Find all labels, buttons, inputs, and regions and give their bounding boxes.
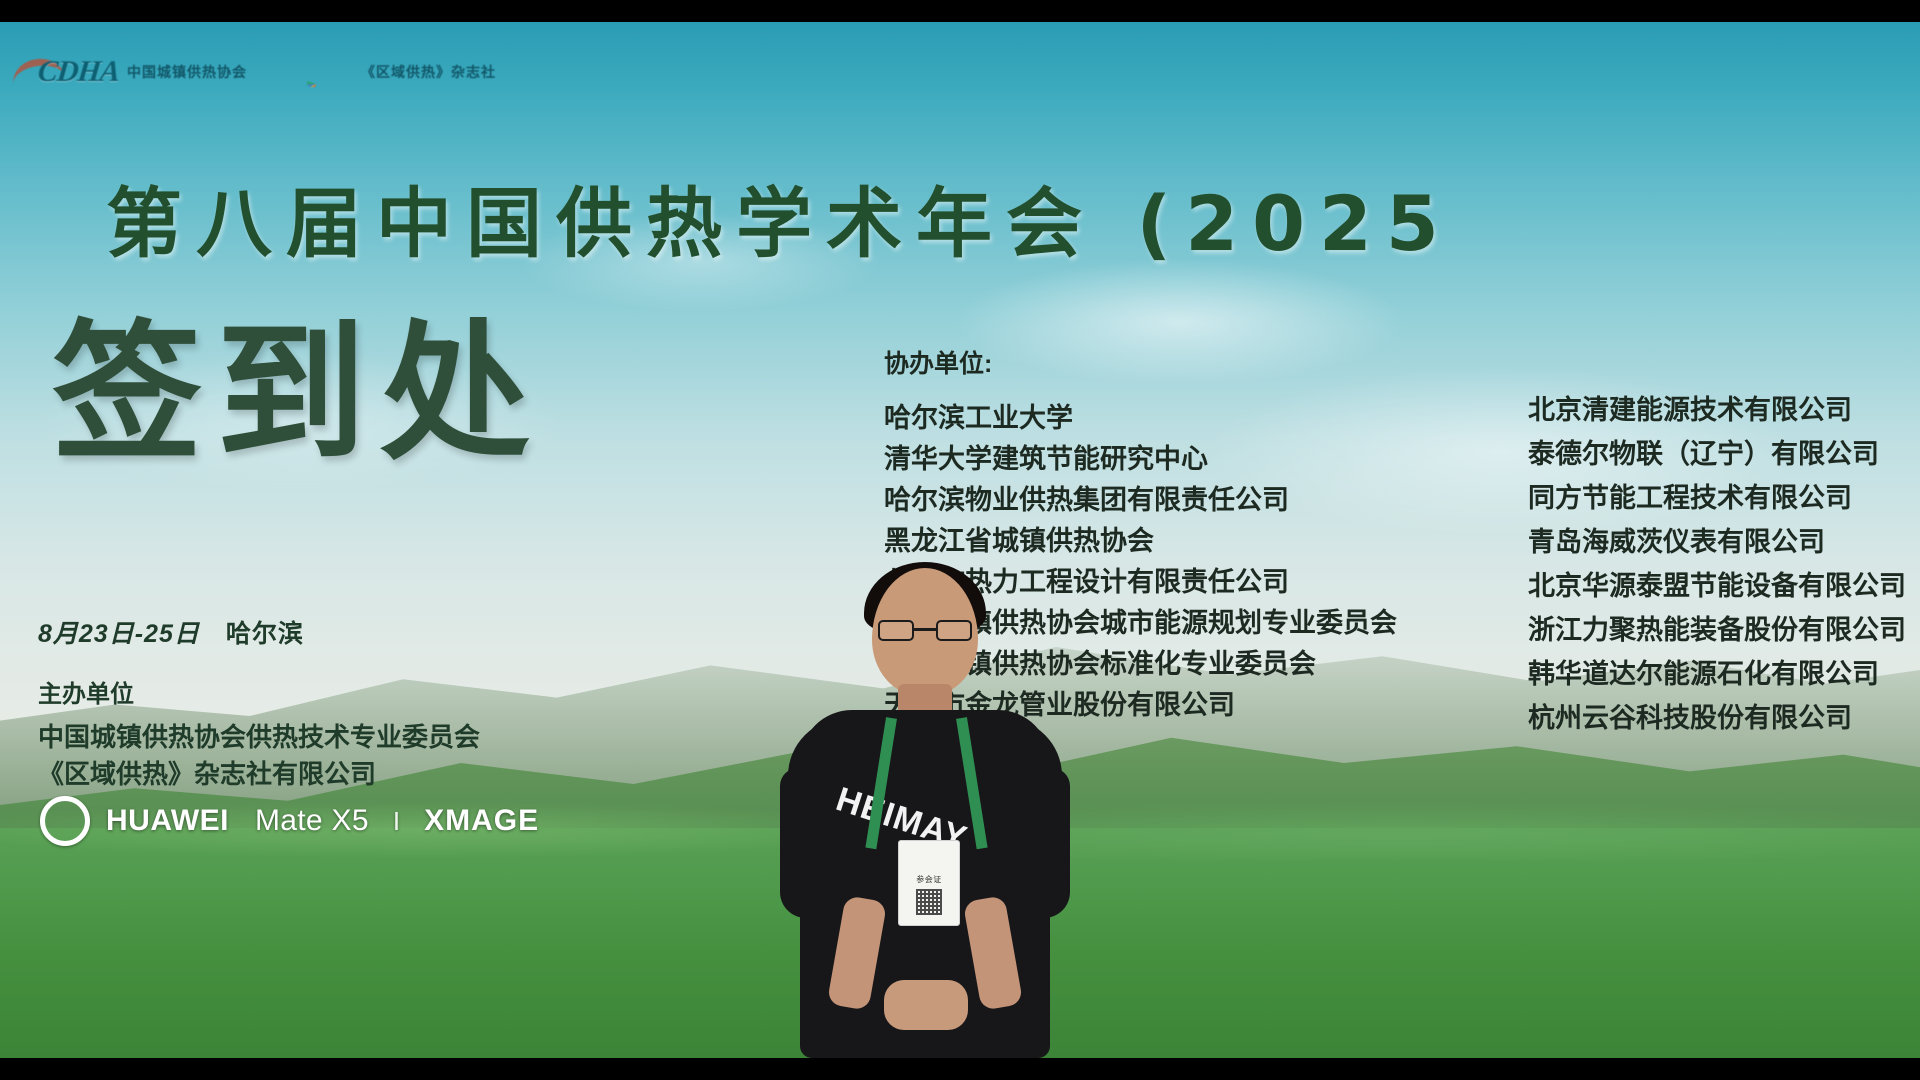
watermark-model: Mate X5 — [255, 804, 369, 838]
sponsor-item: 同方节能工程技术有限公司 — [1528, 476, 1906, 520]
huawei-ring-icon — [40, 796, 90, 846]
organizer-item: 中国城镇供热协会供热技术专业委员会 — [38, 719, 480, 756]
coorganizer-label: 协办单位: — [884, 344, 1397, 380]
clasped-hands — [884, 980, 968, 1030]
sponsor-column: 北京清建能源技术有限公司 泰德尔物联（辽宁）有限公司 同方节能工程技术有限公司 … — [1528, 388, 1906, 740]
sponsor-item: 韩华道达尔能源石化有限公司 — [1528, 652, 1906, 696]
fan-icon — [307, 57, 353, 87]
event-date: 8月23日-25日 — [38, 620, 200, 648]
organizer-label: 主办单位 — [38, 674, 480, 709]
sponsor-item: 北京清建能源技术有限公司 — [1528, 388, 1906, 432]
conference-badge: 参会证 — [898, 840, 960, 926]
glasses-lens-left — [878, 620, 914, 641]
watermark-brand: HUAWEI — [106, 804, 229, 838]
glasses-lens-right — [936, 620, 972, 641]
organizer-item: 《区域供热》杂志社有限公司 — [38, 756, 480, 793]
sponsor-item: 北京华源泰盟节能设备有限公司 — [1528, 564, 1906, 608]
event-info-block: 8月23日-25日哈尔滨 主办单位 中国城镇供热协会供热技术专业委员会 《区域供… — [38, 614, 480, 793]
person-figure: HEIMAY 参会证 — [760, 568, 1090, 1058]
sign-in-heading: 签到处 — [52, 312, 544, 474]
letterbox-top — [0, 0, 1920, 22]
glasses-icon — [878, 620, 972, 641]
badge-qr-icon — [916, 889, 942, 915]
event-date-line: 8月23日-25日哈尔滨 — [38, 614, 480, 650]
huawei-xmage-watermark: HUAWEI Mate X5 I XMAGE — [40, 796, 539, 846]
sponsor-item: 泰德尔物联（辽宁）有限公司 — [1528, 432, 1906, 476]
video-frame: CDHA 中国城镇供热协会 《区域供热》杂志社 第八届中国供热学术年会 (202… — [0, 0, 1920, 1080]
sponsor-item: 杭州云谷科技股份有限公司 — [1528, 696, 1906, 740]
badge-name-text: 参会证 — [916, 874, 942, 885]
sleeve-left — [780, 768, 846, 918]
coorganizer-item: 黑龙江省城镇供热协会 — [884, 521, 1397, 562]
sponsor-logo-strip: CDHA 中国城镇供热协会 《区域供热》杂志社 — [0, 44, 1920, 100]
sponsor-item: 青岛海威茨仪表有限公司 — [1528, 520, 1906, 564]
watermark-separator: I — [393, 806, 400, 837]
watermark-imaging-brand: XMAGE — [424, 804, 539, 838]
cdha-logo-mark: CDHA — [36, 55, 121, 89]
journal-logo: 《区域供热》杂志社 — [307, 57, 496, 87]
cdha-logo: CDHA 中国城镇供热协会 — [12, 55, 247, 89]
sponsor-item: 浙江力聚热能装备股份有限公司 — [1528, 608, 1906, 652]
sleeve-right — [1004, 768, 1070, 918]
cdha-logo-name: 中国城镇供热协会 — [127, 62, 247, 82]
coorganizer-item: 哈尔滨物业供热集团有限责任公司 — [884, 480, 1397, 521]
coorganizer-item: 清华大学建筑节能研究中心 — [884, 439, 1397, 480]
glasses-bridge — [914, 628, 936, 631]
coorganizer-item: 哈尔滨工业大学 — [884, 398, 1397, 439]
event-city: 哈尔滨 — [226, 620, 304, 648]
conference-title: 第八届中国供热学术年会 (2025 — [106, 162, 1453, 272]
letterbox-bottom — [0, 1058, 1920, 1080]
journal-logo-name: 《区域供热》杂志社 — [361, 62, 496, 82]
